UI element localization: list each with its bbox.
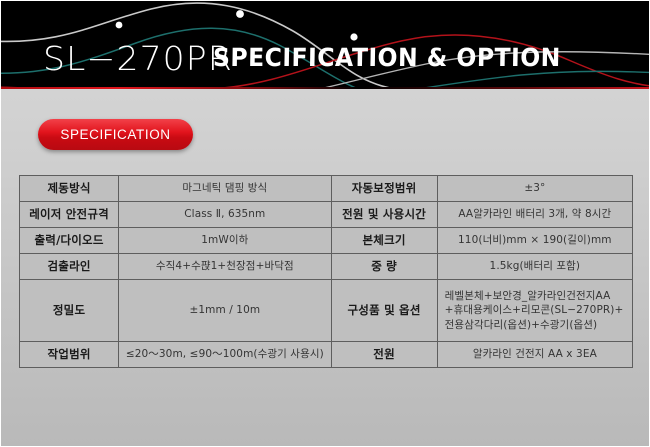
spec-label: 정밀도	[20, 280, 119, 342]
spec-label: 검출라인	[20, 254, 119, 280]
spec-value: 110(너비)mm × 190(길이)mm	[437, 228, 632, 254]
table-row: 출력/다이오드 1mW이하 본체크기 110(너비)mm × 190(길이)mm	[20, 228, 633, 254]
wave-dot-3	[350, 33, 357, 40]
spec-value-multiline: 레벨본체+보안경_알카라인건전지AA +휴대용케이스+리모콘(SL−270PR)…	[437, 280, 632, 342]
spec-value: 수직4+수퍉1+천장점+바닥점	[119, 254, 331, 280]
table-row: 레이저 안전규격 Class Ⅱ, 635nm 전원 및 사용시간 AA알카라인…	[20, 202, 633, 228]
spec-value: ≤20～30m, ≤90～100m(수광기 사용시)	[119, 342, 331, 368]
wave-dot-1	[116, 22, 123, 29]
spec-value-line: 전용삼각다리(옵션)+수광기(옵션)	[441, 318, 629, 332]
spec-label: 전원 및 사용시간	[331, 202, 437, 228]
page-title-model: SL−270PR	[43, 39, 233, 78]
spec-label: 구성품 및 옵션	[331, 280, 437, 342]
table-row: 제동방식 마그네틱 댐핑 방식 자동보정범위 ±3°	[20, 176, 633, 202]
spec-label: 레이저 안전규격	[20, 202, 119, 228]
page-title-subtitle: SPECIFICATION & OPTION	[213, 43, 561, 72]
specification-badge-label: SPECIFICATION	[60, 127, 170, 142]
spec-value: 알카라인 건전지 AA x 3EA	[437, 342, 632, 368]
page-header: SL−270PR SPECIFICATION & OPTION	[1, 1, 650, 89]
specification-table: 제동방식 마그네틱 댐핑 방식 자동보정범위 ±3° 레이저 안전규격 Clas…	[19, 175, 633, 368]
spec-value: 마그네틱 댐핑 방식	[119, 176, 331, 202]
spec-value: 1.5kg(배터리 포함)	[437, 254, 632, 280]
table-row: 검출라인 수직4+수퍉1+천장점+바닥점 중 량 1.5kg(배터리 포함)	[20, 254, 633, 280]
wave-dot-2	[236, 10, 244, 18]
spec-label: 자동보정범위	[331, 176, 437, 202]
spec-value: AA알카라인 배터리 3개, 약 8시간	[437, 202, 632, 228]
specification-page: SL−270PR SPECIFICATION & OPTION SPECIFIC…	[0, 0, 650, 447]
spec-label: 중 량	[331, 254, 437, 280]
table-row: 정밀도 ±1mm / 10m 구성품 및 옵션 레벨본체+보안경_알카라인건전지…	[20, 280, 633, 342]
spec-value: Class Ⅱ, 635nm	[119, 202, 331, 228]
spec-label: 작업범위	[20, 342, 119, 368]
spec-label: 본체크기	[331, 228, 437, 254]
table-row: 작업범위 ≤20～30m, ≤90～100m(수광기 사용시) 전원 알카라인 …	[20, 342, 633, 368]
spec-value: ±3°	[437, 176, 632, 202]
spec-label: 제동방식	[20, 176, 119, 202]
spec-label: 전원	[331, 342, 437, 368]
spec-value: ±1mm / 10m	[119, 280, 331, 342]
spec-value-line: 레벨본체+보안경_알카라인건전지AA	[441, 289, 629, 303]
header-accent-line	[1, 87, 650, 89]
spec-value-line: +휴대용케이스+리모콘(SL−270PR)+	[441, 303, 629, 317]
specification-badge: SPECIFICATION	[38, 119, 193, 150]
spec-value: 1mW이하	[119, 228, 331, 254]
spec-label: 출력/다이오드	[20, 228, 119, 254]
